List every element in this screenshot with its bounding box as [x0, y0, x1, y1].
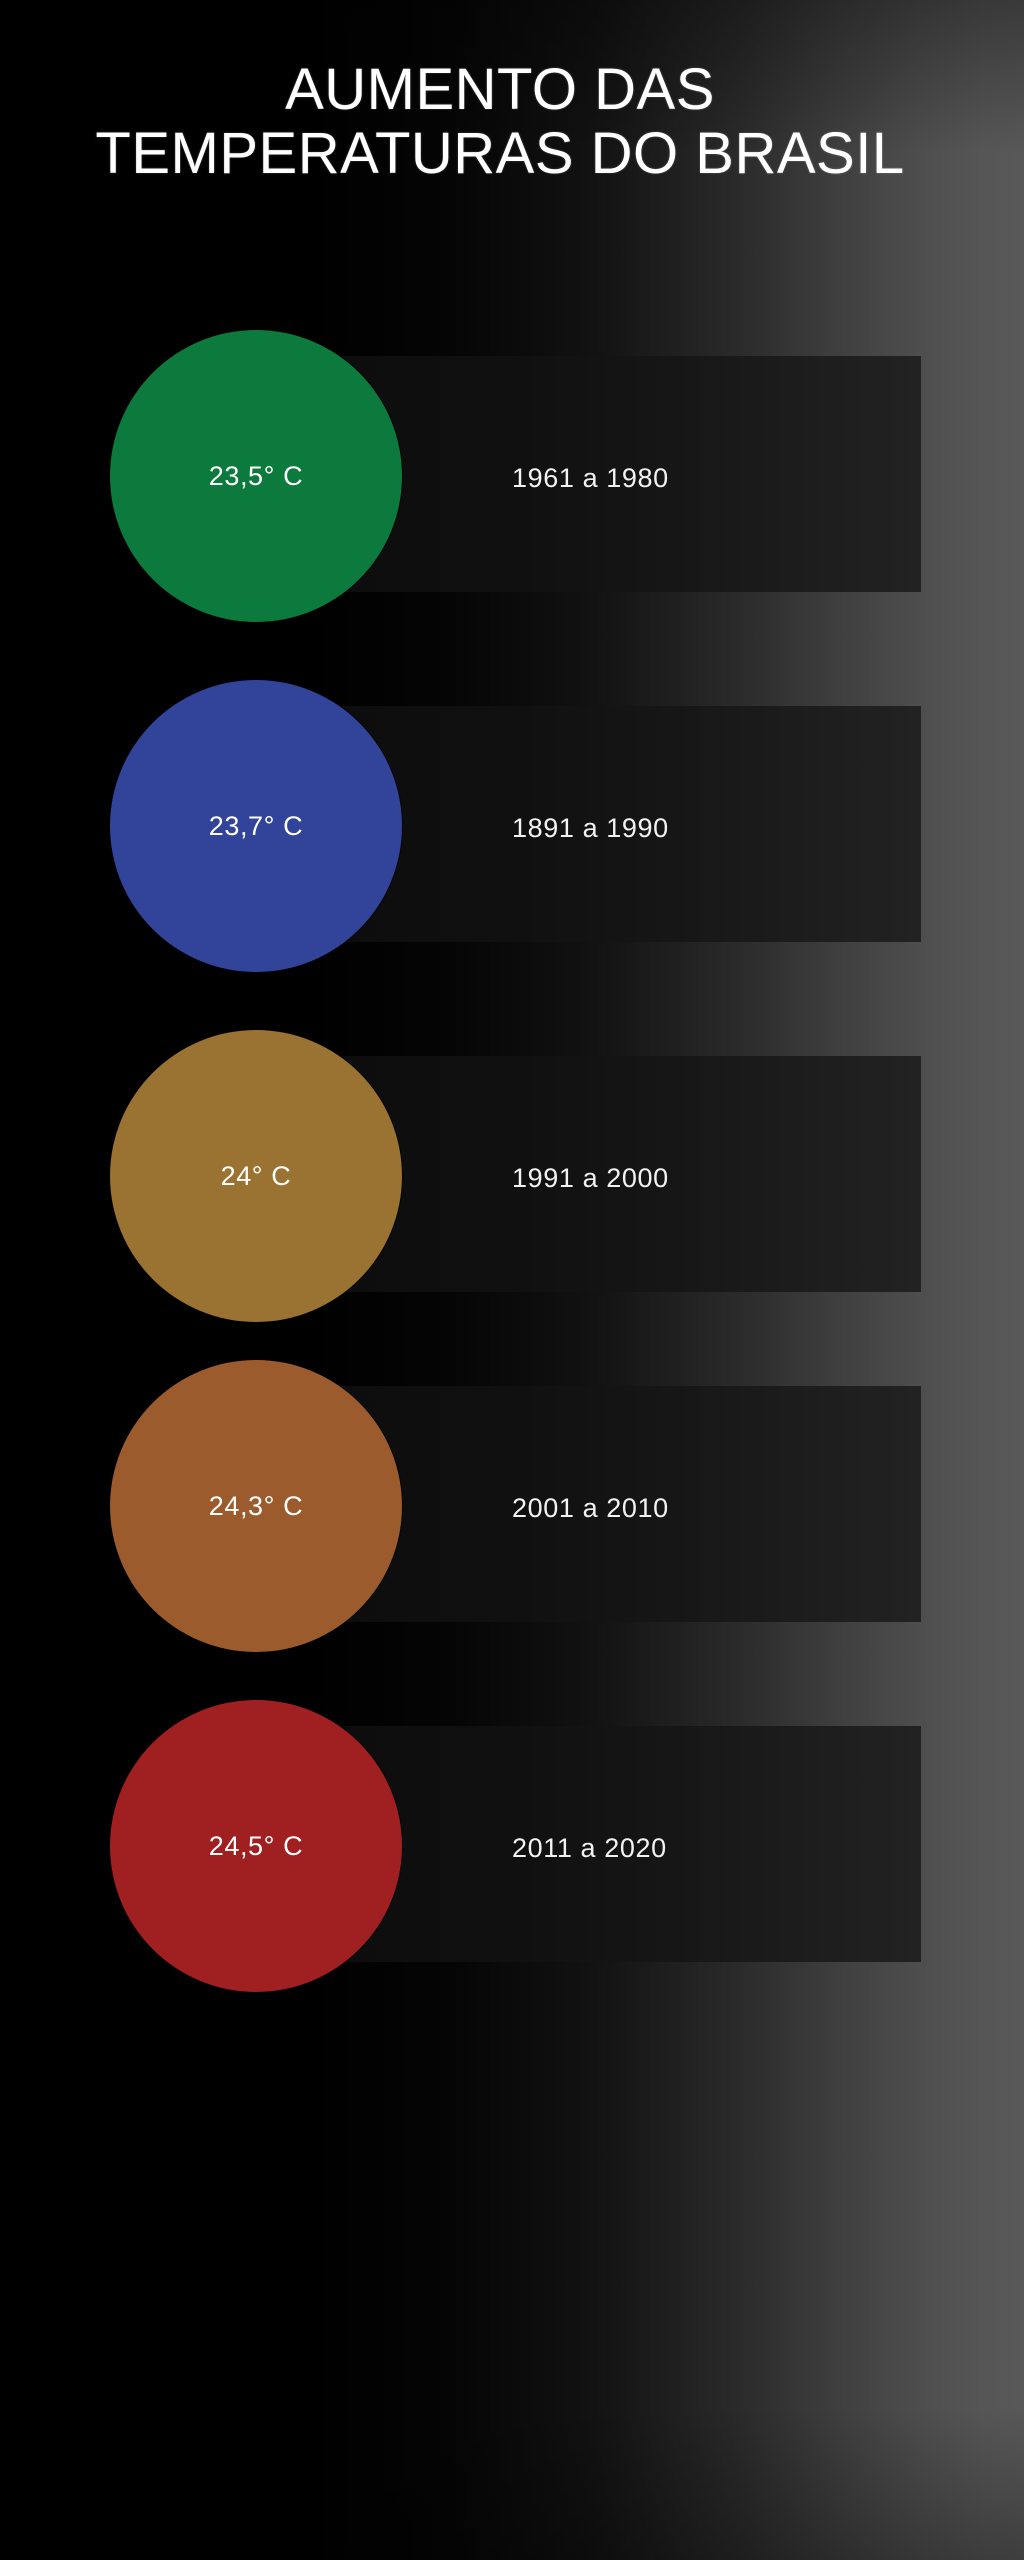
temperature-rows-list: 1961 a 1980 23,5° C 1891 a 1990 23,7° C … — [0, 0, 1024, 2560]
temperature-row: 2001 a 2010 24,3° C — [0, 1360, 1024, 1656]
row-period-label: 1991 a 2000 — [512, 1030, 669, 1326]
temperature-circle-icon: 23,5° C — [110, 330, 402, 622]
row-temperature-value: 24,3° C — [209, 1491, 304, 1522]
row-period-label: 2001 a 2010 — [512, 1360, 669, 1656]
row-temperature-value: 23,7° C — [209, 811, 304, 842]
row-temperature-value: 24° C — [221, 1161, 292, 1192]
temperature-circle-icon: 24,3° C — [110, 1360, 402, 1652]
row-period-label: 2011 a 2020 — [512, 1700, 667, 1996]
row-period-label: 1961 a 1980 — [512, 330, 669, 626]
temperature-row: 2011 a 2020 24,5° C — [0, 1700, 1024, 1996]
temperature-circle-icon: 24° C — [110, 1030, 402, 1322]
temperature-row: 1891 a 1990 23,7° C — [0, 680, 1024, 976]
temperature-row: 1991 a 2000 24° C — [0, 1030, 1024, 1326]
row-temperature-value: 24,5° C — [209, 1831, 304, 1862]
row-period-label: 1891 a 1990 — [512, 680, 669, 976]
temperature-circle-icon: 24,5° C — [110, 1700, 402, 1992]
row-temperature-value: 23,5° C — [209, 461, 304, 492]
temperature-circle-icon: 23,7° C — [110, 680, 402, 972]
temperature-row: 1961 a 1980 23,5° C — [0, 330, 1024, 626]
infographic-canvas: AUMENTO DAS TEMPERATURAS DO BRASIL 1961 … — [0, 0, 1024, 2560]
